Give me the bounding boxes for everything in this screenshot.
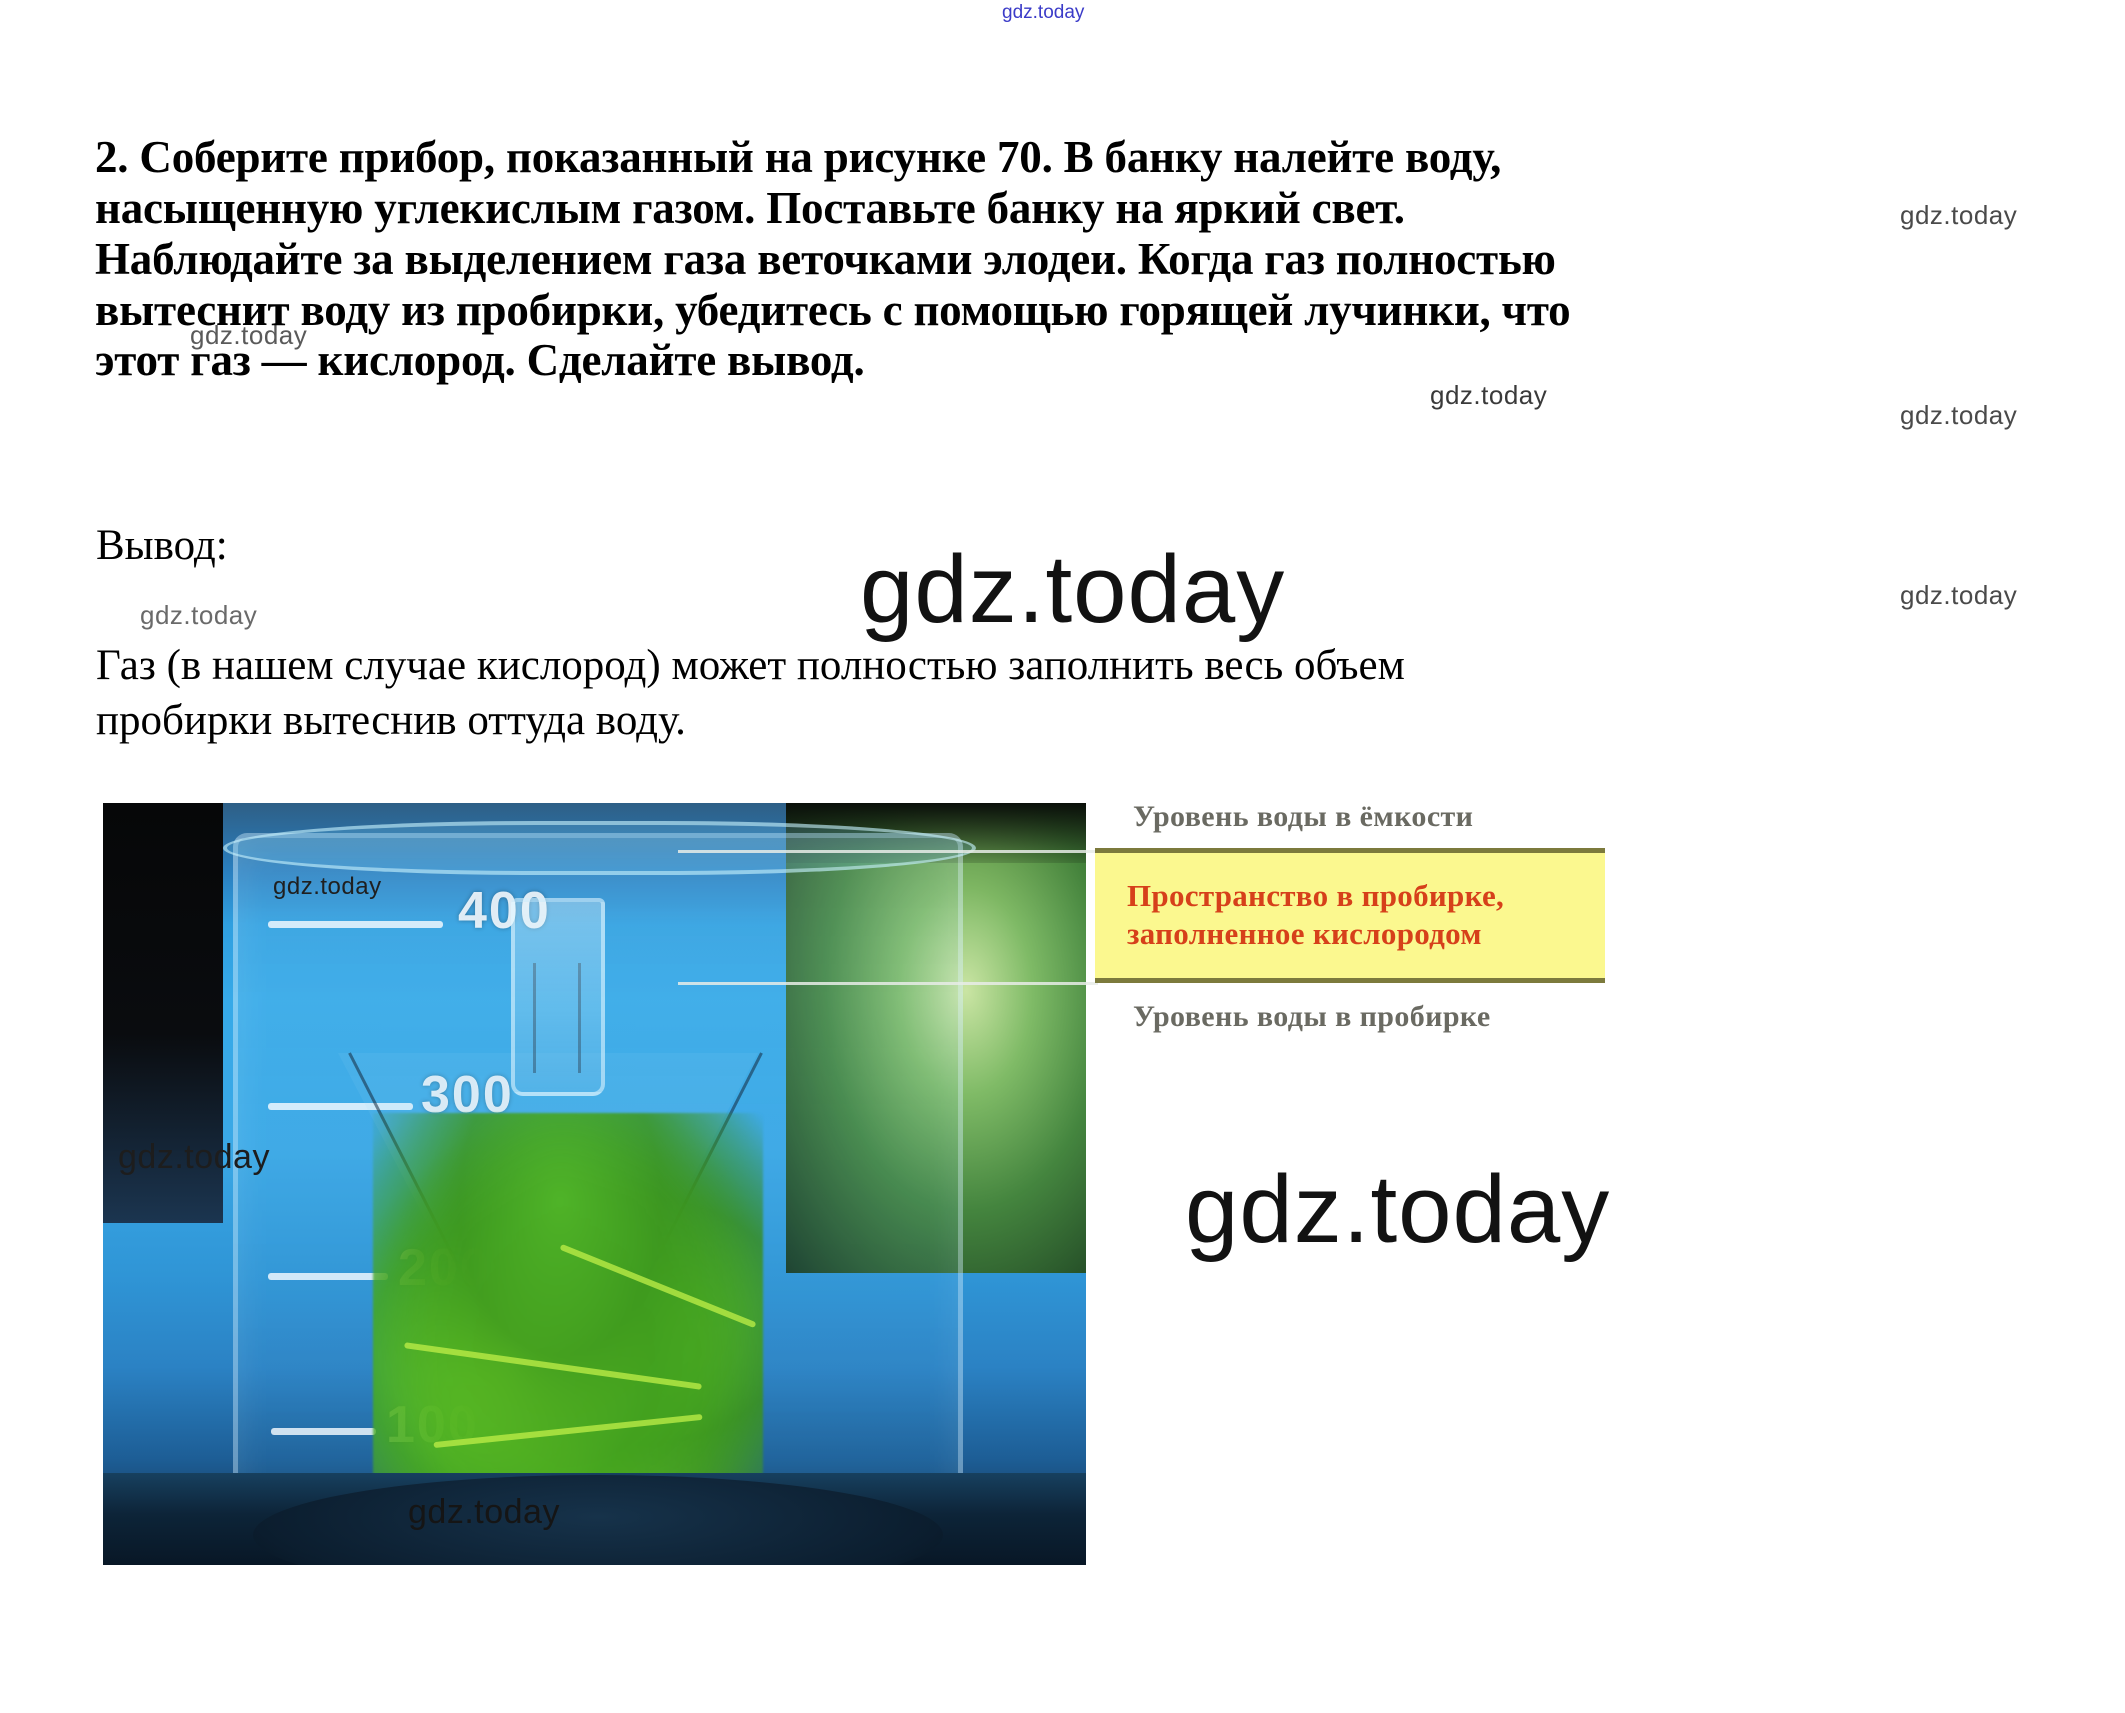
watermark: gdz.today	[1900, 400, 2017, 431]
task-line: Наблюдайте за выделением газа веточками …	[95, 234, 2025, 285]
callout-line: Пространство в пробирке,	[1127, 877, 1605, 915]
conclusion-line: пробирки вытеснив оттуда воду.	[96, 693, 1966, 748]
label-vessel-water-level: Уровень воды в ёмкости	[1133, 800, 1473, 834]
label-tube-water-level: Уровень воды в пробирке	[1133, 1000, 1491, 1034]
figure: 400 300 200 100 gdz.today gdz.today gdz.…	[103, 800, 1613, 1565]
task-line: насыщенную углекислым газом. Поставьте б…	[95, 183, 2025, 234]
glass-jar-rim	[223, 821, 976, 875]
graduation-mark	[268, 921, 443, 928]
task-text: 2. Соберите прибор, показанный на рисунк…	[95, 132, 2025, 386]
task-line: этот газ — кислород. Сделайте вывод.	[95, 335, 2025, 386]
leader-line-tube	[678, 982, 1098, 985]
watermark-top: gdz.today	[1002, 2, 1084, 24]
leader-line-vessel	[678, 850, 1098, 853]
watermark-large: gdz.today	[860, 535, 1285, 645]
test-tube	[511, 898, 605, 1096]
callout-line: заполненное кислородом	[1127, 915, 1605, 953]
conclusion-text: Газ (в нашем случае кислород) может полн…	[96, 638, 1966, 748]
photo-dark-band	[103, 803, 223, 1223]
watermark: gdz.today	[1900, 580, 2017, 611]
conclusion-label: Вывод:	[96, 522, 228, 569]
elodea-plant	[373, 1113, 763, 1513]
task-line: 2. Соберите прибор, показанный на рисунк…	[95, 132, 2025, 183]
task-line: вытеснит воду из пробирки, убедитесь с п…	[95, 285, 2025, 336]
conclusion-line: Газ (в нашем случае кислород) может полн…	[96, 638, 1966, 693]
experiment-photo: 400 300 200 100 gdz.today gdz.today gdz.…	[103, 803, 1086, 1565]
oxygen-callout-box: Пространство в пробирке, заполненное кис…	[1095, 848, 1605, 983]
watermark: gdz.today	[140, 600, 257, 631]
